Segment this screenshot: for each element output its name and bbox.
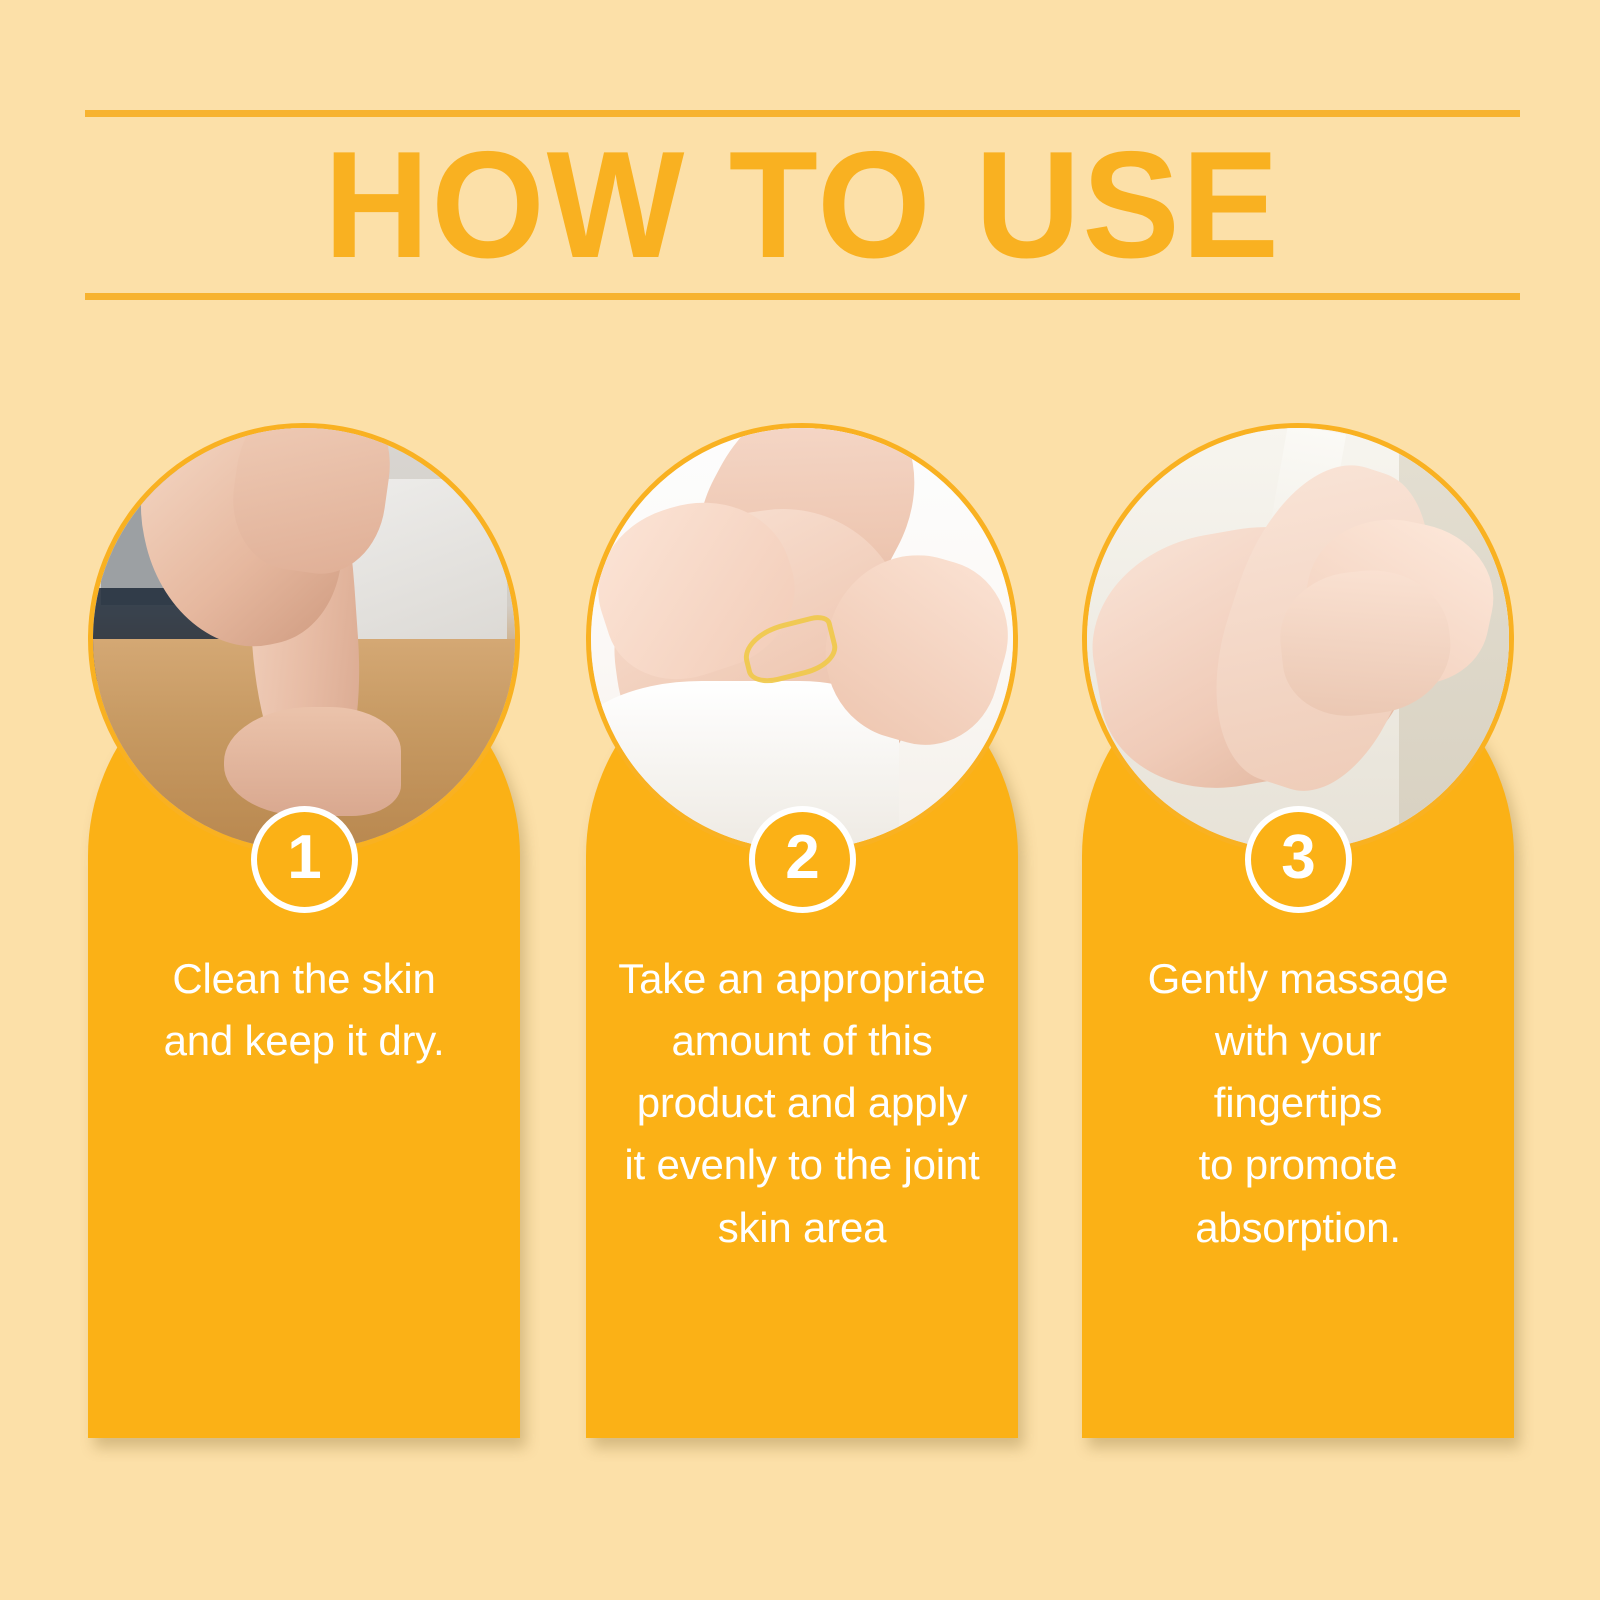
step-1-number: 1 xyxy=(287,827,321,889)
page-title-text: HOW TO USE xyxy=(324,129,1281,281)
photo-scene-apply-gel xyxy=(591,428,1013,850)
step-1-caption: Clean the skin and keep it dry. xyxy=(100,948,508,1072)
step-3-number: 3 xyxy=(1281,827,1315,889)
photo-scene-leg-ankle xyxy=(93,428,515,850)
step-2-badge: 2 xyxy=(749,806,856,913)
header: HOW TO USE xyxy=(85,110,1520,300)
photo-scene-massage-knee xyxy=(1087,428,1509,850)
step-2-caption: Take an appropriate amount of this produ… xyxy=(598,948,1006,1259)
title-top-rule xyxy=(85,110,1520,117)
step-2-photo xyxy=(586,423,1018,855)
title-bottom-rule xyxy=(85,293,1520,300)
step-card-1[interactable]: 1 Clean the skin and keep it dry. xyxy=(88,423,520,1438)
step-1-badge: 1 xyxy=(251,806,358,913)
step-3-photo xyxy=(1082,423,1514,855)
step-card-3[interactable]: 3 Gently massage with your fingertips to… xyxy=(1082,423,1514,1438)
step-1-photo xyxy=(88,423,520,855)
step-2-number: 2 xyxy=(785,827,819,889)
step-3-caption: Gently massage with your fingertips to p… xyxy=(1094,948,1502,1259)
step-card-2[interactable]: 2 Take an appropriate amount of this pro… xyxy=(586,423,1018,1438)
page-title: HOW TO USE xyxy=(85,129,1520,281)
step-3-badge: 3 xyxy=(1245,806,1352,913)
steps-row: 1 Clean the skin and keep it dry. 2 Take… xyxy=(88,423,1514,1438)
